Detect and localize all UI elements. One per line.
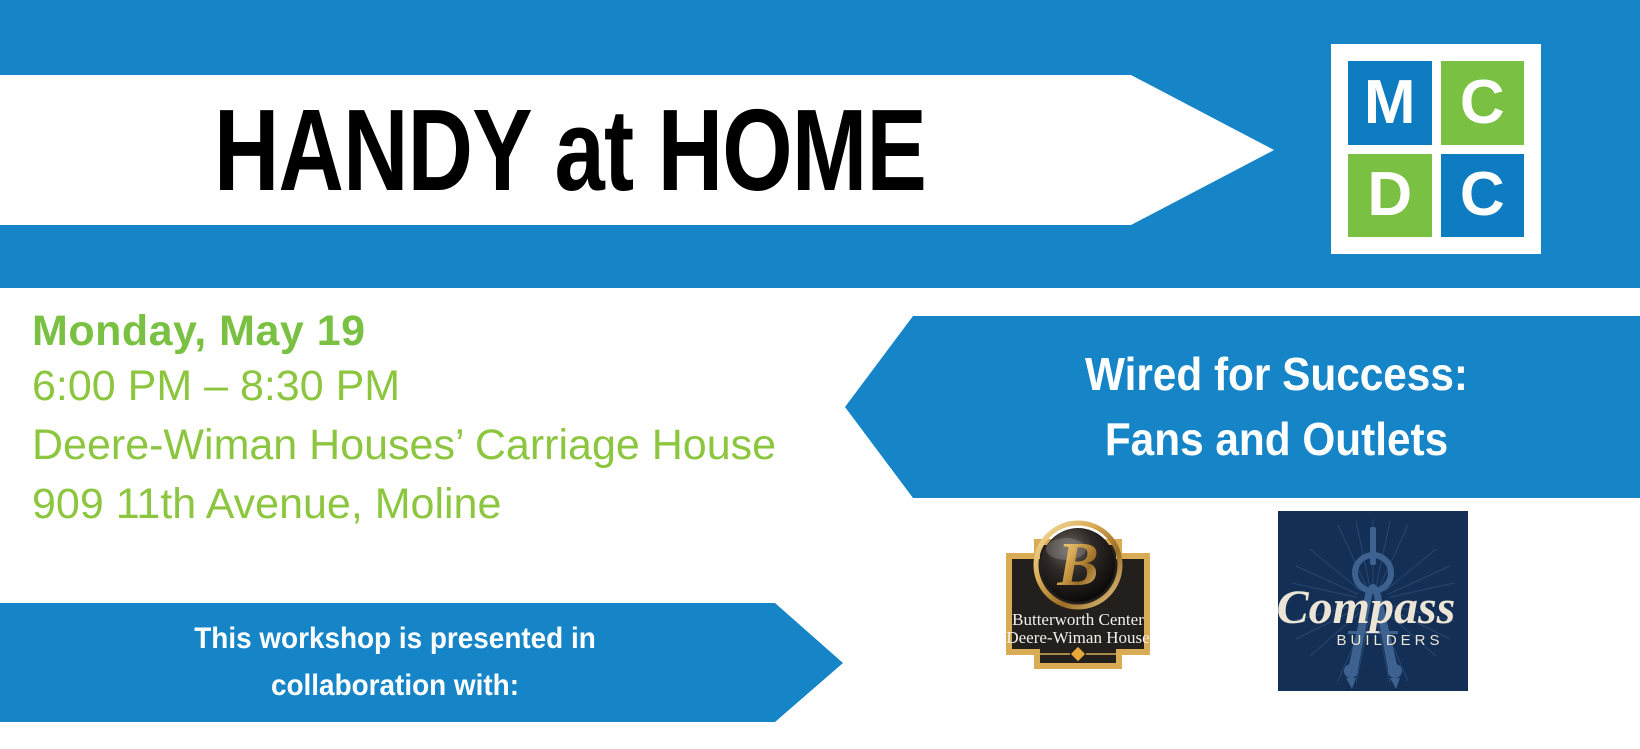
- butterworth-monogram: B: [1056, 531, 1098, 599]
- mcdc-logo-cell-c1: C: [1441, 61, 1525, 145]
- compass-script-name: Compass: [1278, 581, 1455, 634]
- workshop-title-line-2: Fans and Outlets: [1105, 407, 1448, 472]
- event-venue: Deere-Wiman Houses’ Carriage House: [32, 416, 872, 474]
- event-date: Monday, May 19: [32, 306, 872, 357]
- poster-canvas: HANDY at HOME M C D C Monday, May 19 6:0…: [0, 0, 1640, 749]
- mcdc-logo: M C D C: [1331, 44, 1541, 254]
- workshop-title-banner: Wired for Success: Fans and Outlets: [942, 316, 1611, 498]
- collaboration-line-2: collaboration with:: [271, 663, 519, 710]
- butterworth-center-logo: B Butterworth Center Deere-Wiman House: [982, 505, 1174, 687]
- butterworth-name-line-1: Butterworth Center: [1012, 610, 1144, 629]
- event-address: 909 11th Avenue, Moline: [32, 475, 872, 533]
- mcdc-logo-cell-d: D: [1348, 154, 1432, 238]
- compass-builders-logo-icon: Compass BUILDERS: [1278, 511, 1468, 691]
- event-time: 6:00 PM – 8:30 PM: [32, 357, 872, 416]
- event-details: Monday, May 19 6:00 PM – 8:30 PM Deere-W…: [32, 306, 872, 533]
- workshop-title-line-1: Wired for Success:: [1085, 342, 1468, 407]
- mcdc-logo-cell-c2: C: [1441, 154, 1525, 238]
- compass-subtitle: BUILDERS: [1336, 632, 1443, 649]
- collaboration-banner: This workshop is presented in collaborat…: [28, 603, 763, 722]
- page-title: HANDY at HOME: [125, 75, 1014, 225]
- butterworth-name-line-2: Deere-Wiman House: [1006, 628, 1149, 647]
- butterworth-center-logo-icon: B Butterworth Center Deere-Wiman House: [982, 505, 1174, 687]
- compass-builders-logo: Compass BUILDERS: [1278, 511, 1468, 691]
- collaboration-line-1: This workshop is presented in: [194, 616, 596, 663]
- mcdc-logo-cell-m: M: [1348, 61, 1432, 145]
